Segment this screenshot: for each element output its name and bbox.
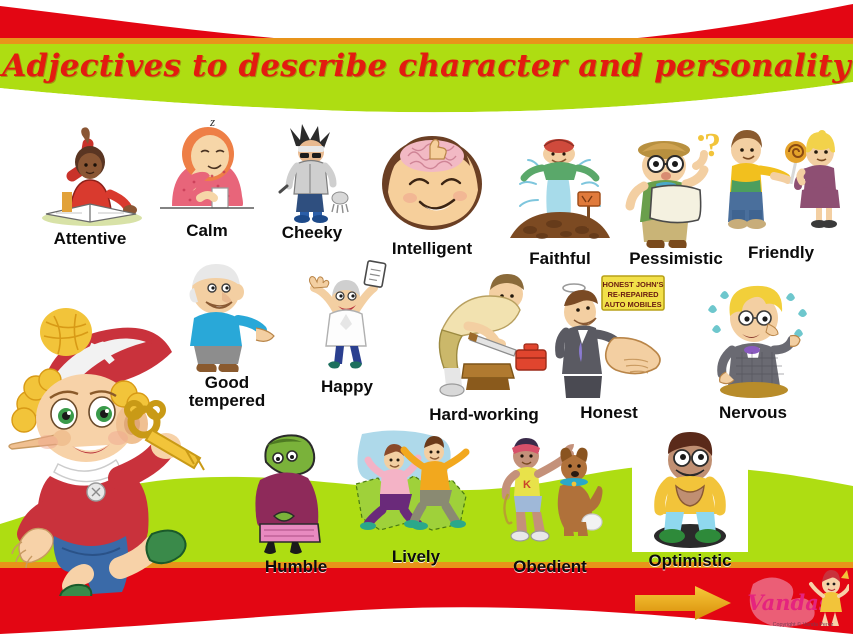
vocab-card-faithful[interactable]: Faithful bbox=[502, 128, 618, 268]
vocab-card-intelligent[interactable]: Intelligent bbox=[364, 122, 500, 258]
page-title: Adjectives to describe character and per… bbox=[0, 48, 853, 84]
vocab-label: Hard-working bbox=[412, 406, 556, 424]
sweating-man-icon bbox=[690, 272, 816, 404]
vocab-card-hard-working[interactable]: Hard-working bbox=[412, 268, 556, 424]
vocab-label: Happy bbox=[292, 378, 402, 396]
stooping-green-figure-icon bbox=[244, 428, 348, 558]
forward-arrow-icon[interactable] bbox=[633, 585, 733, 626]
vocab-card-humble[interactable]: Humble bbox=[244, 428, 348, 576]
vocab-label: Calm bbox=[152, 222, 262, 240]
svg-text:HONEST JOHN'S: HONEST JOHN'S bbox=[603, 280, 664, 289]
vocab-card-lively[interactable]: Lively bbox=[348, 424, 484, 566]
punk-boy-icon bbox=[266, 120, 358, 224]
vocab-label: Friendly bbox=[716, 244, 846, 262]
vocab-label: Faithful bbox=[502, 250, 618, 268]
vocab-label: Attentive bbox=[26, 230, 154, 248]
vocab-label: Honest bbox=[546, 404, 672, 422]
carpenter-sawing-icon bbox=[412, 268, 556, 406]
poster-canvas: Adjectives to describe character and per… bbox=[0, 0, 853, 640]
vocab-card-calm[interactable]: z z Calm bbox=[152, 110, 262, 240]
vocab-label: Nervous bbox=[690, 404, 816, 422]
vocab-card-nervous[interactable]: Nervous bbox=[690, 272, 816, 422]
vocab-card-optimistic[interactable]: Optimistic bbox=[632, 424, 748, 570]
head-with-brain-icon bbox=[364, 122, 500, 240]
vocab-label: Lively bbox=[348, 548, 484, 566]
svg-text:RE-REPAIRED: RE-REPAIRED bbox=[607, 290, 659, 299]
pupil-raising-hand-icon bbox=[26, 118, 154, 230]
vocab-label: Cheeky bbox=[266, 224, 358, 242]
vocab-label: Humble bbox=[244, 558, 348, 576]
girl-with-dog-icon: K bbox=[486, 430, 614, 558]
vocab-card-obedient[interactable]: K bbox=[486, 430, 614, 576]
boy-offering-lollipop-icon bbox=[716, 122, 846, 244]
vocab-label: Obedient bbox=[486, 558, 614, 576]
vocab-card-friendly[interactable]: Friendly bbox=[716, 122, 846, 262]
dancing-couple-icon bbox=[348, 424, 484, 548]
brand-copyright: Copyright © Vanda Perez bbox=[773, 621, 834, 628]
woman-resting-with-mug-icon: z z bbox=[152, 110, 262, 222]
svg-text:K: K bbox=[523, 479, 531, 491]
vocab-card-honest[interactable]: HONEST JOHN'S RE-REPAIRED AUTO MOBILES bbox=[546, 272, 672, 422]
vocab-card-happy[interactable]: Happy bbox=[292, 258, 402, 396]
salesman-handshake-icon: HONEST JOHN'S RE-REPAIRED AUTO MOBILES bbox=[546, 272, 672, 404]
svg-text:AUTO MOBILES: AUTO MOBILES bbox=[604, 300, 661, 309]
vocab-label: Intelligent bbox=[364, 240, 500, 258]
vocab-card-attentive[interactable]: Attentive bbox=[26, 118, 154, 248]
hero-illustration-pinocchio bbox=[2, 296, 242, 601]
cheering-doctor-icon bbox=[292, 258, 402, 378]
vocab-card-cheeky[interactable]: Cheeky bbox=[266, 120, 358, 242]
vocab-label: Optimistic bbox=[632, 552, 748, 570]
hopeful-boy-icon bbox=[632, 424, 748, 552]
svg-text:z: z bbox=[209, 114, 215, 129]
geyser-fountain-icon bbox=[502, 128, 618, 250]
vandas-logo[interactable]: Vandas Copyright © Vanda Perez bbox=[745, 566, 849, 638]
